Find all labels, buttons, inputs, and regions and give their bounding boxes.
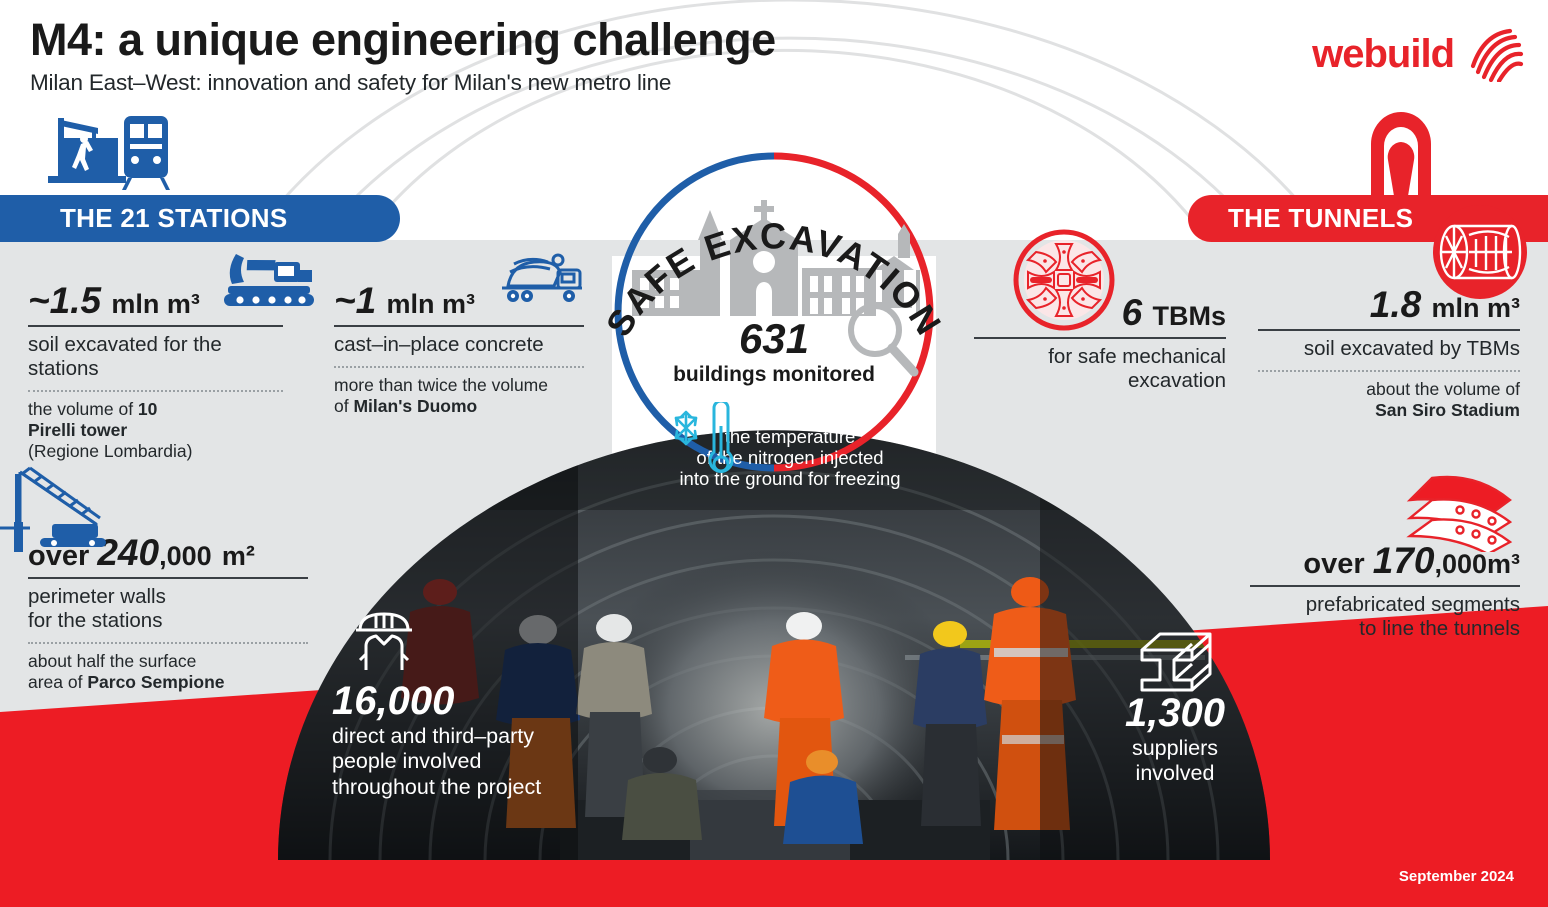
- suppliers-caption: suppliers involved: [1060, 736, 1290, 787]
- publication-date: September 2024: [1399, 868, 1514, 885]
- divider-rule: [974, 337, 1226, 339]
- divider-dots: [28, 642, 308, 644]
- people-involved-block: 16,000 direct and third–party people inv…: [332, 680, 612, 800]
- stat-perimeter-walls: over 240,000 m² perimeter wallsfor the s…: [28, 534, 308, 693]
- divider-dots: [28, 390, 283, 392]
- worker-helmet-icon: [352, 608, 416, 674]
- divider-dots: [1258, 370, 1520, 372]
- buildings-monitored-number: 631: [614, 318, 934, 360]
- precast-segments-icon: [1398, 470, 1522, 552]
- tunnel-arch-icon: [1368, 108, 1434, 198]
- webuild-swoosh-icon: [1464, 26, 1524, 82]
- stat-description: for safe mechanicalexcavation: [974, 345, 1226, 393]
- station-train-icon: [48, 110, 172, 192]
- stat-description: perimeter wallsfor the stations: [28, 585, 308, 633]
- stat-soil-excavated-tbms: 1.8 mln m³ soil excavated by TBMs about …: [1258, 286, 1520, 421]
- stat-description: soil excavated by TBMs: [1258, 337, 1520, 361]
- banner-stations[interactable]: THE 21 STATIONS: [0, 195, 400, 242]
- divider-rule: [334, 325, 584, 327]
- suppliers-block: 1,300 suppliers involved: [1060, 692, 1290, 787]
- concrete-mixer-truck-icon: [496, 252, 586, 308]
- divider-rule: [1250, 585, 1520, 587]
- infographic-canvas: M4: a unique engineering challenge Milan…: [0, 0, 1548, 907]
- buildings-monitored-block: 631 buildings monitored: [614, 318, 934, 387]
- suppliers-number: 1,300: [1060, 692, 1290, 734]
- banner-stations-label: THE 21 STATIONS: [60, 203, 287, 234]
- divider-dots: [334, 366, 584, 368]
- stat-subnote: more than twice the volume of Milan's Du…: [334, 375, 584, 417]
- excavator-icon: [218, 250, 318, 308]
- buildings-monitored-caption: buildings monitored: [614, 363, 934, 387]
- tbm-cutterhead-icon: [1012, 228, 1116, 332]
- webuild-logo[interactable]: webuild: [1312, 26, 1524, 82]
- divider-rule: [1258, 329, 1520, 331]
- stat-subnote: about half the surface area of Parco Sem…: [28, 651, 308, 693]
- people-involved-number: 16,000: [332, 680, 612, 722]
- steel-beam-icon: [1136, 628, 1216, 696]
- stat-description: prefabricated segmentsto line the tunnel…: [1250, 593, 1520, 641]
- crawler-crane-icon: [0, 466, 140, 556]
- divider-rule: [28, 325, 283, 327]
- stat-prefabricated-segments: over 170,000m³ prefabricated segmentsto …: [1250, 542, 1520, 641]
- divider-rule: [28, 577, 308, 579]
- snowflake-thermometer-icon: [672, 402, 734, 484]
- logo-wordmark: webuild: [1312, 32, 1454, 77]
- people-involved-caption: direct and third–party people involved t…: [332, 724, 612, 800]
- stat-subnote: about the volume of San Siro Stadium: [1258, 379, 1520, 421]
- stat-description: soil excavated for the stations: [28, 333, 283, 381]
- banner-tunnels-label: THE TUNNELS: [1228, 203, 1413, 234]
- stat-subnote: the volume of 10 Pirelli tower (Regione …: [28, 399, 283, 462]
- page-subtitle: Milan East–West: innovation and safety f…: [30, 70, 776, 96]
- page-header: M4: a unique engineering challenge Milan…: [30, 16, 776, 96]
- stat-description: cast–in–place concrete: [334, 333, 584, 357]
- tbm-tunnel-cylinder-icon: [1424, 205, 1536, 299]
- page-title: M4: a unique engineering challenge: [30, 16, 776, 63]
- stat-soil-excavated-stations: ~1.5 mln m³ soil excavated for the stati…: [28, 282, 283, 462]
